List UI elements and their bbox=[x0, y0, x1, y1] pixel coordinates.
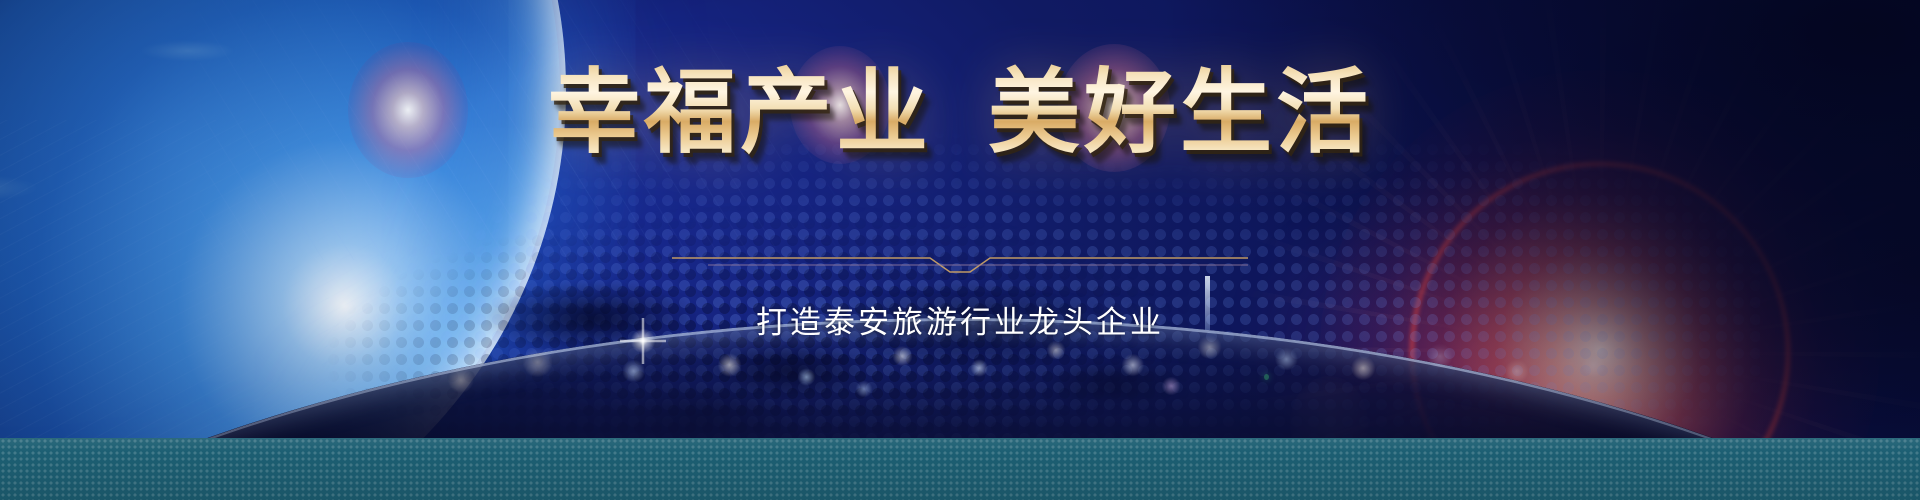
bottom-teal-bar bbox=[0, 438, 1920, 500]
promo-banner: 幸福产业美好生活 打造泰安旅游行业龙头企业 bbox=[0, 0, 1920, 500]
subtitle-text: 打造泰安旅游行业龙头企业 bbox=[756, 297, 1164, 342]
bottom-bar-sheen bbox=[0, 438, 1920, 500]
divider-icon bbox=[672, 250, 1248, 276]
subtitle-block: 打造泰安旅游行业龙头企业 bbox=[0, 297, 1920, 342]
headline-part-1: 幸福产业 bbox=[548, 60, 932, 166]
gold-divider bbox=[672, 250, 1248, 276]
headline-part-2: 美好生活 bbox=[988, 60, 1372, 166]
headline-block: 幸福产业美好生活 bbox=[0, 60, 1920, 166]
